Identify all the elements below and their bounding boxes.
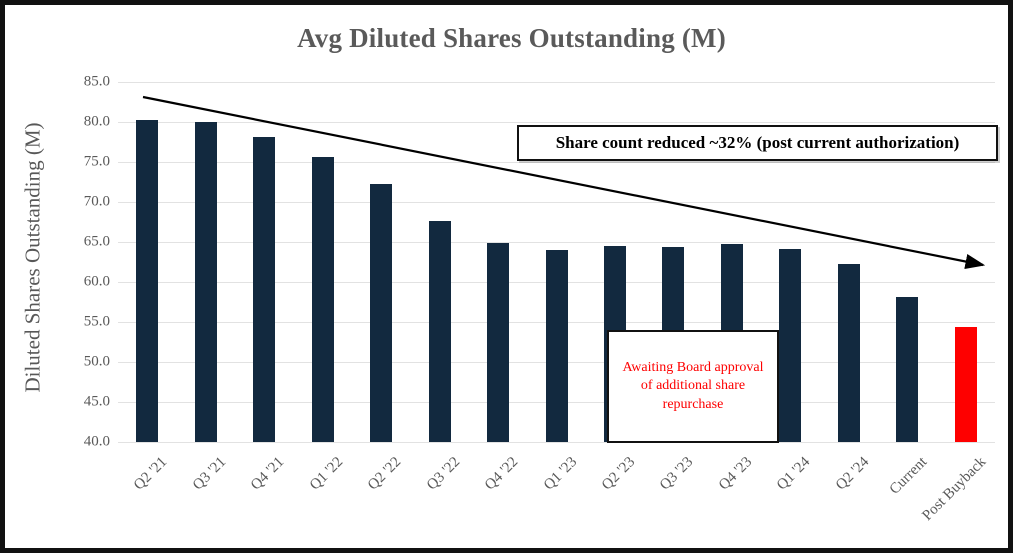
y-axis-tick-label: 60.0 xyxy=(40,274,110,291)
chart-title: Avg Diluted Shares Outstanding (M) xyxy=(5,23,1013,54)
y-axis-tick-label: 55.0 xyxy=(40,314,110,331)
x-axis-tick-label: Q2 '22 xyxy=(365,454,405,494)
bar xyxy=(546,250,568,442)
chart-canvas: Avg Diluted Shares Outstanding (M) Dilut… xyxy=(0,0,1013,553)
y-axis-tick-label: 40.0 xyxy=(40,434,110,451)
gridline xyxy=(118,82,995,83)
x-axis-tick-label: Q4 '21 xyxy=(248,454,288,494)
bar xyxy=(253,137,275,442)
bar xyxy=(487,243,509,442)
bar xyxy=(370,184,392,442)
x-axis-tick-label: Q3 '23 xyxy=(657,454,697,494)
y-axis-tick-label: 70.0 xyxy=(40,194,110,211)
gridline xyxy=(118,162,995,163)
gridline xyxy=(118,122,995,123)
bar xyxy=(955,327,977,442)
bar xyxy=(429,221,451,442)
gridline xyxy=(118,202,995,203)
x-axis-tick-label: Q2 '21 xyxy=(131,454,171,494)
bar xyxy=(838,264,860,442)
y-axis-tick-label: 85.0 xyxy=(40,74,110,91)
x-axis-tick-label: Q1 '24 xyxy=(774,454,814,494)
y-axis-tick-label: 45.0 xyxy=(40,394,110,411)
bar xyxy=(779,249,801,442)
y-axis-tick-label: 65.0 xyxy=(40,234,110,251)
x-axis-tick-labels: Q2 '21Q3 '21Q4 '21Q1 '22Q2 '22Q3 '22Q4 '… xyxy=(118,446,995,553)
y-axis-tick-labels: 85.080.075.070.065.060.055.050.045.040.0 xyxy=(38,82,110,442)
share-count-callout: Share count reduced ~32% (post current a… xyxy=(517,125,998,161)
x-axis-tick-label: Q3 '22 xyxy=(423,454,463,494)
y-axis-tick-label: 80.0 xyxy=(40,114,110,131)
bar xyxy=(896,297,918,442)
x-axis-tick-label: Q4 '23 xyxy=(716,454,756,494)
x-axis-tick-label: Q1 '23 xyxy=(540,454,580,494)
x-axis-tick-label: Q3 '21 xyxy=(190,454,230,494)
y-axis-tick-label: 50.0 xyxy=(40,354,110,371)
bar xyxy=(195,122,217,442)
x-axis-tick-label: Q4 '22 xyxy=(482,454,522,494)
x-axis-tick-label: Q2 '24 xyxy=(833,454,873,494)
bar xyxy=(136,120,158,442)
bar xyxy=(312,157,334,442)
x-axis-tick-label: Q2 '23 xyxy=(599,454,639,494)
x-axis-tick-label: Current xyxy=(887,454,931,498)
gridline xyxy=(118,242,995,243)
x-axis-tick-label: Q1 '22 xyxy=(306,454,346,494)
gridline xyxy=(118,442,995,443)
awaiting-board-callout: Awaiting Board approval of additional sh… xyxy=(607,330,779,443)
y-axis-tick-label: 75.0 xyxy=(40,154,110,171)
